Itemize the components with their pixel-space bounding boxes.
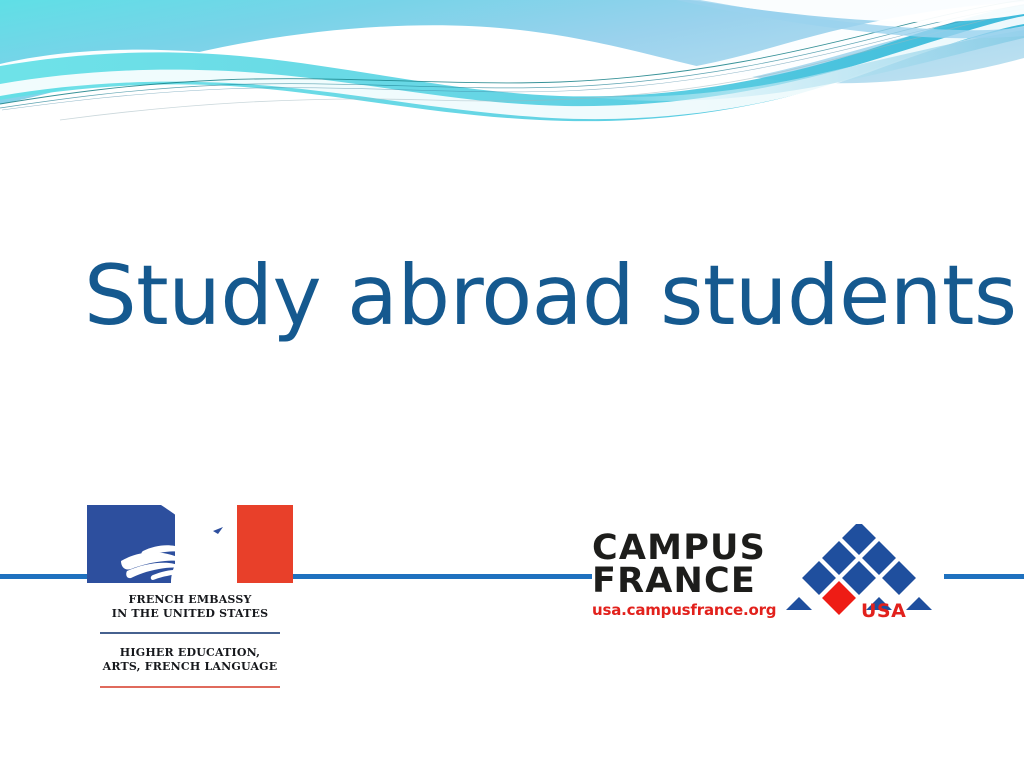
campus-france-logo: CAMPUS FRANCE usa.campusfrance.org <box>592 524 944 634</box>
embassy-divider-blue <box>100 632 280 634</box>
embassy-name-line-1: FRENCH EMBASSY <box>87 593 293 607</box>
campus-france-wordmark: CAMPUS FRANCE usa.campusfrance.org <box>592 532 787 619</box>
header-wave-decoration <box>0 0 1024 130</box>
embassy-name-line-2: IN THE UNITED STATES <box>87 607 293 621</box>
french-embassy-logo: FRENCH EMBASSY IN THE UNITED STATES HIGH… <box>87 505 293 717</box>
campus-france-country-label: USA <box>861 600 906 622</box>
page-title: Study abroad students <box>84 252 1017 339</box>
embassy-department-line-2: ARTS, FRENCH LANGUAGE <box>87 660 293 674</box>
embassy-department: HIGHER EDUCATION, ARTS, FRENCH LANGUAGE <box>87 646 293 674</box>
french-flag-marianne-emblem <box>87 505 293 583</box>
title-placeholder: Study abroad students <box>84 236 944 356</box>
embassy-divider-red <box>100 686 280 688</box>
marianne-profile-icon <box>87 505 293 583</box>
embassy-name: FRENCH EMBASSY IN THE UNITED STATES <box>87 593 293 621</box>
campus-france-pyramid-icon <box>774 524 944 624</box>
campus-france-url: usa.campusfrance.org <box>592 601 787 619</box>
campus-word-france: FRANCE <box>592 565 787 598</box>
embassy-department-line-1: HIGHER EDUCATION, <box>87 646 293 660</box>
presentation-slide: Study abroad students FRENCH EMBA <box>0 0 1024 768</box>
